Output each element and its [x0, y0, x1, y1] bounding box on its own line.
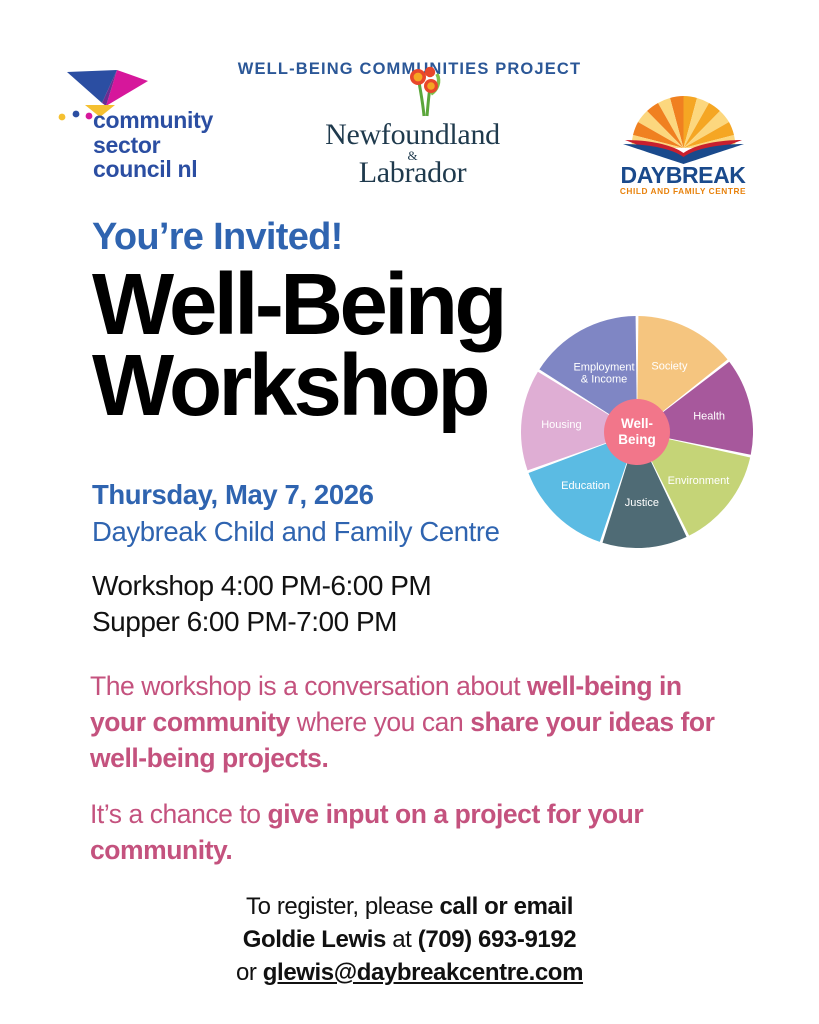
- daybreak-sunburst-book-icon: [621, 90, 746, 164]
- wheel-label-society: Society: [651, 360, 688, 372]
- footer-l1-bold: call or email: [439, 893, 573, 920]
- well-being-wheel-chart: SocietyHealthEnvironmentJusticeEducation…: [521, 316, 753, 548]
- nl-line-newfoundland: Newfoundland: [325, 118, 500, 152]
- footer-l1-regular: To register, please: [246, 893, 439, 920]
- csc-line-3: council nl: [93, 157, 213, 182]
- wheel-center-label-line1: Well-: [621, 416, 653, 431]
- wheel-label-employment-income: Employment: [573, 362, 634, 374]
- footer-line-1: To register, please call or email: [0, 890, 819, 923]
- footer-line-2: Goldie Lewis at (709) 693-9192: [0, 923, 819, 956]
- logo-community-sector-council-nl: community sector council nl: [55, 65, 240, 195]
- logo-row: community sector council nl Newfoundland…: [0, 60, 819, 200]
- daybreak-tagline: CHILD AND FAMILY CENTRE: [608, 186, 758, 196]
- description-block: The workshop is a conversation about wel…: [90, 668, 730, 888]
- poster-canvas: WELL-BEING COMMUNITIES PROJECT community…: [0, 0, 819, 1024]
- contact-phone: (709) 693-9192: [418, 926, 577, 953]
- event-venue: Daybreak Child and Family Centre: [92, 516, 500, 548]
- description-paragraph-1: The workshop is a conversation about wel…: [90, 668, 730, 776]
- page-title-line-2: Workshop: [92, 345, 504, 426]
- eyebrow-youre-invited: You’re Invited!: [92, 216, 343, 259]
- logo-newfoundland-labrador: Newfoundland & Labrador: [325, 90, 500, 200]
- csc-line-2: sector: [93, 133, 213, 158]
- registration-footer: To register, please call or email Goldie…: [0, 890, 819, 989]
- csc-wordmark: community sector council nl: [93, 108, 213, 182]
- description-paragraph-2: It’s a chance to give input on a project…: [90, 796, 730, 868]
- event-time-workshop: Workshop 4:00 PM-6:00 PM: [92, 568, 431, 604]
- nl-line-labrador: Labrador: [325, 156, 500, 190]
- footer-l2-regular: at: [386, 926, 418, 953]
- wheel-label-justice: Justice: [625, 497, 659, 509]
- wheel-label-environment: Environment: [668, 475, 730, 487]
- contact-name: Goldie Lewis: [243, 926, 386, 953]
- csc-line-1: community: [93, 108, 213, 133]
- page-title: Well-Being Workshop: [92, 264, 504, 426]
- desc1-seg2: where you can: [290, 707, 470, 737]
- wheel-label-health: Health: [693, 410, 725, 422]
- contact-email-link[interactable]: glewis@daybreakcentre.com: [263, 959, 583, 986]
- wheel-center-label-line2: Being: [618, 432, 656, 447]
- footer-l3-regular: or: [236, 959, 263, 986]
- footer-line-3: or glewis@daybreakcentre.com: [0, 956, 819, 989]
- desc1-seg1: The workshop is a conversation about: [90, 671, 527, 701]
- event-times: Workshop 4:00 PM-6:00 PM Supper 6:00 PM-…: [92, 568, 431, 640]
- desc2-seg1: It’s a chance to: [90, 799, 267, 829]
- wheel-label-education: Education: [561, 480, 610, 492]
- page-title-line-1: Well-Being: [92, 264, 504, 345]
- event-time-supper: Supper 6:00 PM-7:00 PM: [92, 604, 431, 640]
- wheel-label-housing: Housing: [541, 419, 581, 431]
- pitcher-plant-flowers-icon: [397, 64, 453, 118]
- daybreak-wordmark: DAYBREAK: [608, 162, 758, 189]
- logo-daybreak-child-and-family-centre: DAYBREAK CHILD AND FAMILY CENTRE: [608, 90, 758, 205]
- event-date: Thursday, May 7, 2026: [92, 479, 374, 511]
- wheel-label-employment-income: & Income: [581, 374, 627, 386]
